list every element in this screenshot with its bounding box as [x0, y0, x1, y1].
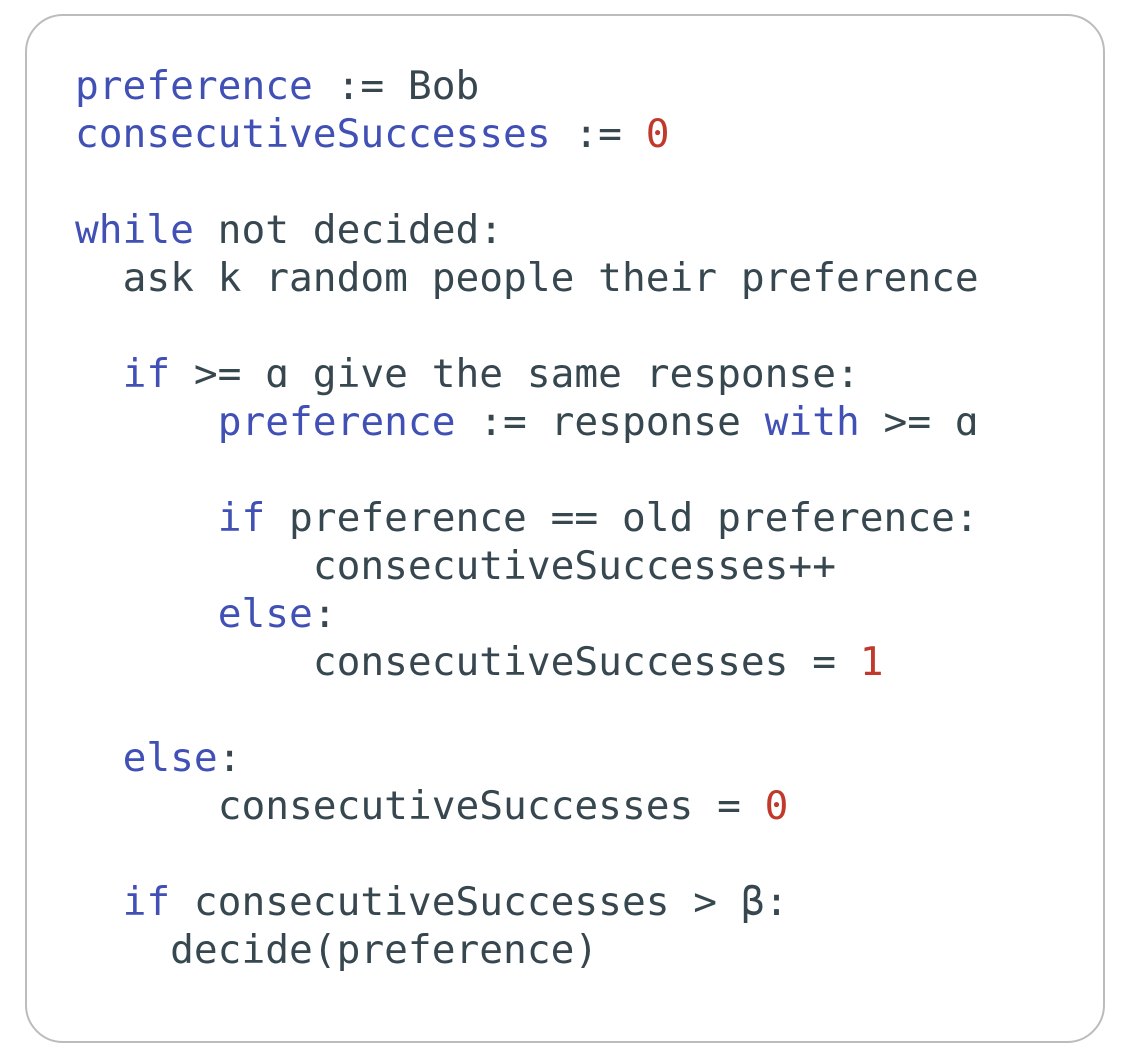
code-indent	[75, 351, 123, 397]
code-number: 0	[765, 783, 789, 829]
code-line: consecutiveSuccesses = 0	[75, 782, 979, 830]
code-line	[75, 830, 979, 878]
code-line: consecutiveSuccesses++	[75, 542, 979, 590]
code-line: decide(preference)	[75, 926, 979, 974]
code-indent	[75, 783, 218, 829]
code-keyword: preference	[218, 399, 456, 445]
code-indent	[75, 639, 313, 685]
code-text: consecutiveSuccesses =	[313, 639, 860, 685]
code-keyword: if	[218, 495, 266, 541]
code-text: consecutiveSuccesses =	[218, 783, 765, 829]
code-indent	[75, 927, 170, 973]
code-text: preference == old preference:	[265, 495, 978, 541]
code-card: preference := BobconsecutiveSuccesses :=…	[25, 14, 1105, 1043]
code-keyword: if	[123, 351, 171, 397]
code-text: :=	[551, 111, 646, 157]
code-line: while not decided:	[75, 206, 979, 254]
code-keyword: else	[218, 591, 313, 637]
code-text: :	[218, 735, 242, 781]
code-line: preference := Bob	[75, 62, 979, 110]
code-number: 1	[860, 639, 884, 685]
code-indent	[75, 399, 218, 445]
code-line	[75, 446, 979, 494]
code-text: := Bob	[313, 63, 479, 109]
code-text: :	[313, 591, 337, 637]
code-line	[75, 686, 979, 734]
code-text: not decided:	[194, 207, 503, 253]
code-line: else:	[75, 734, 979, 782]
code-keyword: else	[123, 735, 218, 781]
code-line	[75, 302, 979, 350]
code-line: consecutiveSuccesses := 0	[75, 110, 979, 158]
code-indent	[75, 879, 123, 925]
code-line	[75, 158, 979, 206]
code-indent	[75, 591, 218, 637]
code-keyword: if	[123, 879, 171, 925]
code-line: preference := response with >= ɑ	[75, 398, 979, 446]
code-text: consecutiveSuccesses++	[313, 543, 836, 589]
code-line: if consecutiveSuccesses > β:	[75, 878, 979, 926]
code-indent	[75, 735, 123, 781]
code-keyword: consecutiveSuccesses	[75, 111, 551, 157]
code-line: else:	[75, 590, 979, 638]
code-indent	[75, 543, 313, 589]
code-line: ask k random people their preference	[75, 254, 979, 302]
code-keyword: with	[765, 399, 860, 445]
code-text: >= ɑ	[860, 399, 979, 445]
code-number: 0	[646, 111, 670, 157]
code-text: := response	[456, 399, 765, 445]
code-line: consecutiveSuccesses = 1	[75, 638, 979, 686]
code-text: >= ɑ give the same response:	[170, 351, 860, 397]
code-indent	[75, 255, 123, 301]
code-line: if >= ɑ give the same response:	[75, 350, 979, 398]
code-keyword: preference	[75, 63, 313, 109]
code-keyword: while	[75, 207, 194, 253]
code-indent	[75, 495, 218, 541]
code-line: if preference == old preference:	[75, 494, 979, 542]
code-block: preference := BobconsecutiveSuccesses :=…	[75, 62, 979, 974]
code-text: decide(preference)	[170, 927, 598, 973]
code-text: consecutiveSuccesses > β:	[170, 879, 788, 925]
code-text: ask k random people their preference	[123, 255, 979, 301]
